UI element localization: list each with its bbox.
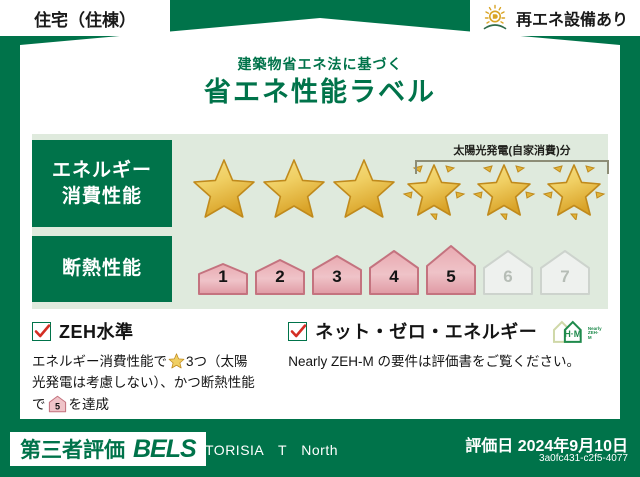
criterion-zeh-text-1: エネルギー消費性能で bbox=[32, 354, 167, 369]
energy-performance-row: エネルギー 消費性能 太陽光発電(自家消費)分 bbox=[32, 140, 608, 227]
criterion-zeh-body: エネルギー消費性能で3つ（太陽光発電は考慮しない）、かつ断熱性能で5を達成 bbox=[32, 351, 260, 415]
star-icon bbox=[190, 154, 258, 220]
insulation-level-house: 5 bbox=[424, 244, 478, 296]
criterion-nze: ネット・ゼロ・エネルギー H·M Nearly ZEH-M Nearly ZEH… bbox=[266, 318, 608, 418]
evaluation-id: 3a0fc431-c2f5-4077 bbox=[539, 453, 628, 464]
renewable-equipment-label: 再エネ設備あり bbox=[516, 6, 628, 30]
solar-bracket bbox=[415, 160, 609, 174]
criterion-zeh-header: ZEH水準 bbox=[32, 318, 260, 344]
star-icon-inline bbox=[168, 352, 185, 369]
energy-performance-label: 住宅（住棟） 再エネ設備あり bbox=[0, 0, 640, 477]
insulation-level-house-inactive: 7 bbox=[538, 249, 592, 296]
title-subtitle: 建築物省エネ法に基づく bbox=[0, 56, 640, 73]
star-icon bbox=[330, 154, 398, 220]
title-main: 省エネ性能ラベル bbox=[0, 75, 640, 110]
page-title: 建築物省エネ法に基づく 省エネ性能ラベル bbox=[0, 56, 640, 110]
energy-label-line2: 消費性能 bbox=[62, 184, 142, 210]
checkbox-checked-icon[interactable] bbox=[288, 322, 307, 341]
bels-jp-label: 第三者評価 bbox=[20, 434, 125, 464]
insulation-level-house: 1 bbox=[196, 262, 250, 296]
solar-caption: 太陽光発電(自家消費)分 bbox=[415, 142, 609, 158]
energy-stars-area: 太陽光発電(自家消費)分 bbox=[172, 140, 608, 227]
renewable-equipment-tag: 再エネ設備あり bbox=[470, 0, 640, 36]
svg-text:5: 5 bbox=[54, 401, 59, 411]
insulation-level-number: 5 bbox=[424, 267, 478, 287]
energy-label-line1: エネルギー bbox=[52, 158, 152, 184]
checkbox-checked-icon[interactable] bbox=[32, 322, 51, 341]
criterion-nze-body: Nearly ZEH-M の要件は評価書をご覧ください。 bbox=[288, 351, 602, 372]
bels-logo: 第三者評価 BELS bbox=[10, 432, 206, 466]
energy-performance-label-box: エネルギー 消費性能 bbox=[32, 140, 172, 227]
criteria-section: ZEH水準 エネルギー消費性能で3つ（太陽光発電は考慮しない）、かつ断熱性能で5… bbox=[32, 318, 608, 418]
insulation-levels-area: 1 2 3 4 bbox=[172, 236, 608, 302]
insulation-performance-row: 断熱性能 1 2 bbox=[32, 236, 608, 302]
svg-text:H·M: H·M bbox=[565, 329, 582, 339]
insulation-level-number: 7 bbox=[538, 267, 592, 287]
insulation-level-number: 2 bbox=[253, 267, 307, 287]
insulation-level-number: 6 bbox=[481, 267, 535, 287]
insulation-level-scale: 1 2 3 4 bbox=[172, 236, 592, 302]
housing-type-label: 住宅（住棟） bbox=[34, 6, 136, 31]
insulation-level-house: 3 bbox=[310, 254, 364, 296]
zeh-m-logo-sub2: ZEH-M bbox=[588, 331, 602, 340]
property-name: TORISIA T North bbox=[205, 440, 338, 460]
bels-en-label: BELS bbox=[133, 435, 196, 464]
insulation-level-number: 4 bbox=[367, 267, 421, 287]
housing-type-tag: 住宅（住棟） bbox=[0, 0, 170, 36]
insulation-label: 断熱性能 bbox=[62, 256, 142, 282]
criterion-zeh-text-3: を達成 bbox=[69, 397, 110, 412]
criterion-zeh: ZEH水準 エネルギー消費性能で3つ（太陽光発電は考慮しない）、かつ断熱性能で5… bbox=[32, 318, 266, 418]
criterion-zeh-title: ZEH水準 bbox=[59, 318, 134, 344]
sun-icon bbox=[482, 4, 512, 32]
house-icon-inline: 5 bbox=[48, 395, 67, 413]
insulation-level-house: 2 bbox=[253, 258, 307, 296]
criterion-nze-header: ネット・ゼロ・エネルギー H·M Nearly ZEH-M bbox=[288, 318, 602, 344]
footer-bar: 第三者評価 BELS TORISIA T North 評価日 2024年9月10… bbox=[0, 422, 640, 477]
insulation-level-number: 1 bbox=[196, 267, 250, 287]
insulation-performance-label-box: 断熱性能 bbox=[32, 236, 172, 302]
insulation-level-house-inactive: 6 bbox=[481, 249, 535, 296]
zeh-m-house-logo: H·M Nearly ZEH-M bbox=[551, 318, 602, 344]
criterion-nze-title: ネット・ゼロ・エネルギー bbox=[315, 318, 537, 344]
star-icon bbox=[260, 154, 328, 220]
insulation-level-number: 3 bbox=[310, 267, 364, 287]
insulation-level-house: 4 bbox=[367, 249, 421, 296]
